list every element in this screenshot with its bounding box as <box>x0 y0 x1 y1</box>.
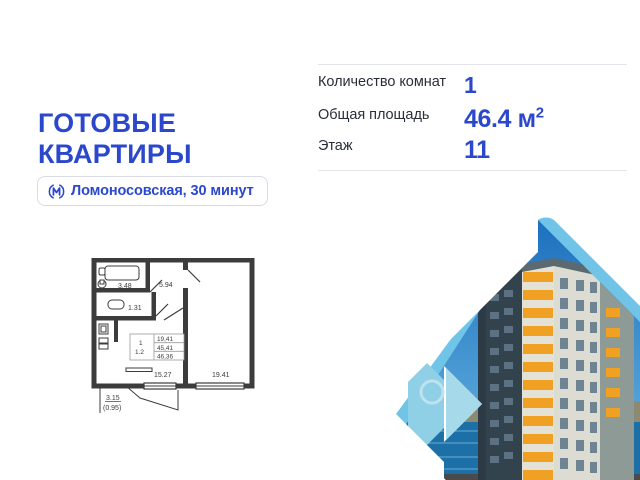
plan-label-living: 19.41 <box>212 372 230 379</box>
plan-stamp: 1 1.2 19,41 45,41 46,36 <box>130 334 184 360</box>
spec-value-area: 46.4 м2 <box>464 107 544 133</box>
floor-plan-drawing: 3.48 5.94 1.31 15.27 19.41 3.15 (0.95) 1… <box>88 258 258 418</box>
stamp-living-area: 19,41 <box>157 336 173 343</box>
spec-label-area: Общая площадь <box>318 107 464 125</box>
headline-line-1: ГОТОВЫЕ <box>38 108 176 138</box>
plan-label-wc: 1.31 <box>128 305 142 312</box>
stamp-area-without-balcony: 45,41 <box>157 345 173 352</box>
stamp-total-area: 46,36 <box>157 353 173 360</box>
page-title: ГОТОВЫЕ КВАРТИРЫ <box>38 108 308 171</box>
spec-label-floor: Этаж <box>318 138 464 156</box>
spec-value-area-number: 46.4 м <box>464 105 536 133</box>
kitchen-unit-icon <box>99 338 108 343</box>
spec-value-area-superscript: 2 <box>536 105 544 122</box>
spec-row-area: Общая площадь 46.4 м2 <box>318 98 627 134</box>
metro-m-icon <box>48 183 65 200</box>
spec-row-floor: Этаж 11 <box>318 134 627 165</box>
spec-table: Количество комнат 1 Общая площадь 46.4 м… <box>318 64 627 171</box>
plan-label-bathroom: 3.48 <box>118 283 132 290</box>
building-artwork <box>386 216 640 480</box>
floor-plan[interactable]: 3.48 5.94 1.31 15.27 19.41 3.15 (0.95) 1… <box>88 258 258 418</box>
listing-card: ГОТОВЫЕ КВАРТИРЫ Ломоносовская, 30 минут… <box>0 0 640 480</box>
spec-value-rooms: 1 <box>464 74 476 97</box>
wc-bidet-icon <box>108 300 124 309</box>
plan-label-hall: 5.94 <box>159 282 173 289</box>
spec-label-rooms: Количество комнат <box>318 74 464 92</box>
kitchen-unit-2-icon <box>99 344 108 349</box>
metro-badge[interactable]: Ломоносовская, 30 минут <box>37 176 268 206</box>
plan-label-kitchen: 15.27 <box>154 372 172 379</box>
spec-divider-bottom <box>318 170 627 171</box>
metro-label: Ломоносовская, 30 минут <box>71 183 254 199</box>
spec-value-floor: 11 <box>464 138 490 164</box>
plan-label-balcony-coef: (0.95) <box>103 405 121 412</box>
toilet-tank-icon <box>100 280 104 284</box>
stamp-apartment-number: 1 <box>139 340 143 347</box>
sink-icon <box>99 268 105 275</box>
spec-row-rooms: Количество комнат 1 <box>318 65 627 98</box>
bathtub-icon <box>105 266 139 280</box>
stamp-apartment-type: 1.2 <box>135 349 144 356</box>
headline-line-2: КВАРТИРЫ <box>38 139 308 170</box>
building-artwork-svg <box>386 216 640 480</box>
plan-label-balcony: 3.15 <box>106 395 120 402</box>
